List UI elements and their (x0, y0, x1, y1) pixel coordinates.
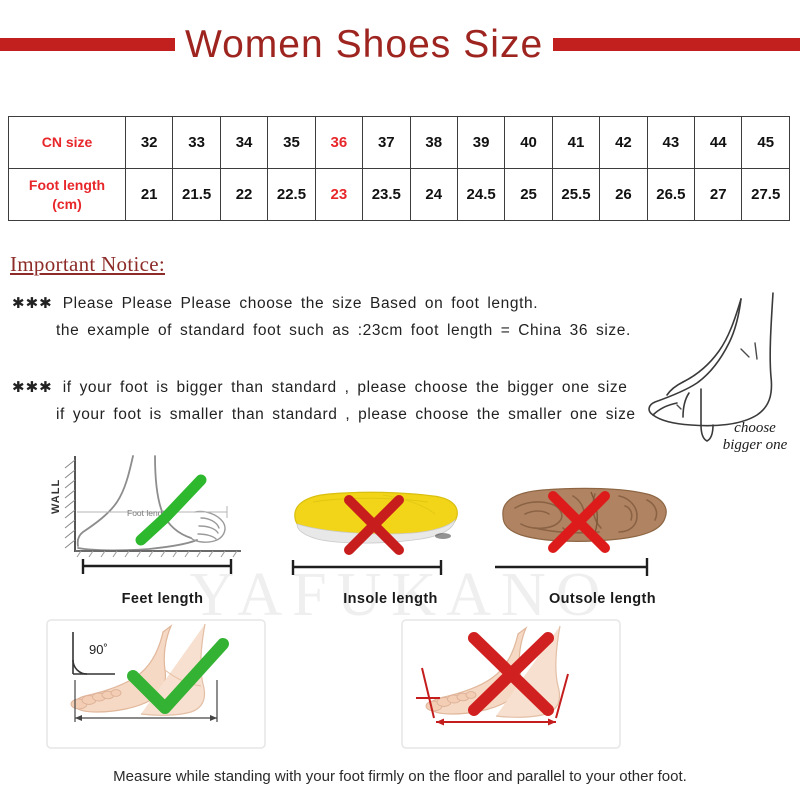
sketch-caption: choose bigger one (700, 420, 800, 455)
cell-len-24-5: 24.5 (457, 169, 504, 221)
bottom-caption: Measure while standing with your foot fi… (0, 768, 800, 785)
cell-cn-40: 40 (505, 117, 552, 169)
table-row-cn-size: CN size 32 33 34 35 36 37 38 39 40 41 42… (9, 117, 790, 169)
cell-len-26-5: 26.5 (647, 169, 694, 221)
angle-label-90: 90˚ (89, 642, 108, 657)
page-title-row: WomenShoesSize (0, 18, 800, 70)
panel-standing-correct: 90˚ (45, 618, 295, 763)
panel-standing-wrong (400, 618, 665, 763)
title-word-size: Size (463, 23, 543, 66)
notice-line-2: the example of standard foot such as :23… (56, 322, 631, 340)
cell-cn-41: 41 (552, 117, 599, 169)
notice-line-1-text: Please Please Please choose the size Bas… (63, 295, 538, 312)
panel-insole-length: Insole length (283, 462, 498, 607)
cell-cn-37: 37 (363, 117, 410, 169)
panel-outsole-length: Outsole length (495, 462, 710, 607)
cell-cn-44: 44 (695, 117, 742, 169)
panel-feet-length: WALL (45, 452, 280, 607)
size-table: CN size 32 33 34 35 36 37 38 39 40 41 42… (8, 116, 790, 221)
cell-len-27-5: 27.5 (742, 169, 790, 221)
sketch-caption-line1: choose (700, 420, 800, 437)
panel-caption-insole-length: Insole length (283, 591, 498, 607)
notice-line-3: ✱✱✱if your foot is bigger than standard … (12, 378, 627, 397)
cell-len-22-5: 22.5 (268, 169, 315, 221)
cell-cn-42: 42 (600, 117, 647, 169)
cell-len-26: 26 (600, 169, 647, 221)
cell-len-25: 25 (505, 169, 552, 221)
cell-len-23-5: 23.5 (363, 169, 410, 221)
sketch-caption-line2: bigger one (700, 437, 800, 454)
cell-cn-38: 38 (410, 117, 457, 169)
row-label-foot-length: Foot length (cm) (9, 169, 126, 221)
asterisk-marker-1: ✱✱✱ (12, 295, 53, 312)
title-word-women: Women (185, 23, 324, 66)
title-bar-right (553, 38, 800, 51)
row-label-foot-length-line1: Foot length (9, 176, 125, 195)
cell-len-25-5: 25.5 (552, 169, 599, 221)
title-word-shoes: Shoes (336, 23, 452, 66)
title-bar-left (0, 38, 175, 51)
notice-line-3-text: if your foot is bigger than standard , p… (63, 379, 628, 396)
notice-line-1: ✱✱✱Please Please Please choose the size … (12, 294, 538, 313)
important-notice-heading: Important Notice: (10, 252, 165, 277)
page-title: WomenShoesSize (175, 25, 553, 64)
size-chart-page: WomenShoesSize CN size 32 33 34 35 36 37… (0, 0, 800, 800)
cell-len-22: 22 (220, 169, 267, 221)
cell-cn-43: 43 (647, 117, 694, 169)
cell-len-21-5: 21.5 (173, 169, 220, 221)
cell-cn-36: 36 (315, 117, 362, 169)
cell-len-24: 24 (410, 169, 457, 221)
cell-cn-45: 45 (742, 117, 790, 169)
cell-len-23: 23 (315, 169, 362, 221)
panel-caption-outsole-length: Outsole length (495, 591, 710, 607)
cell-len-27: 27 (695, 169, 742, 221)
cell-cn-32: 32 (125, 117, 172, 169)
notice-line-4: if your foot is smaller than standard , … (56, 406, 636, 424)
cell-len-21: 21 (125, 169, 172, 221)
wall-label: WALL (50, 479, 62, 514)
panel-caption-feet-length: Feet length (45, 591, 280, 607)
cell-cn-33: 33 (173, 117, 220, 169)
cell-cn-34: 34 (220, 117, 267, 169)
row-label-cn-size: CN size (9, 117, 126, 169)
row-label-foot-length-line2: (cm) (9, 195, 125, 214)
cell-cn-39: 39 (457, 117, 504, 169)
asterisk-marker-2: ✱✱✱ (12, 379, 53, 396)
table-row-foot-length: Foot length (cm) 21 21.5 22 22.5 23 23.5… (9, 169, 790, 221)
cell-cn-35: 35 (268, 117, 315, 169)
